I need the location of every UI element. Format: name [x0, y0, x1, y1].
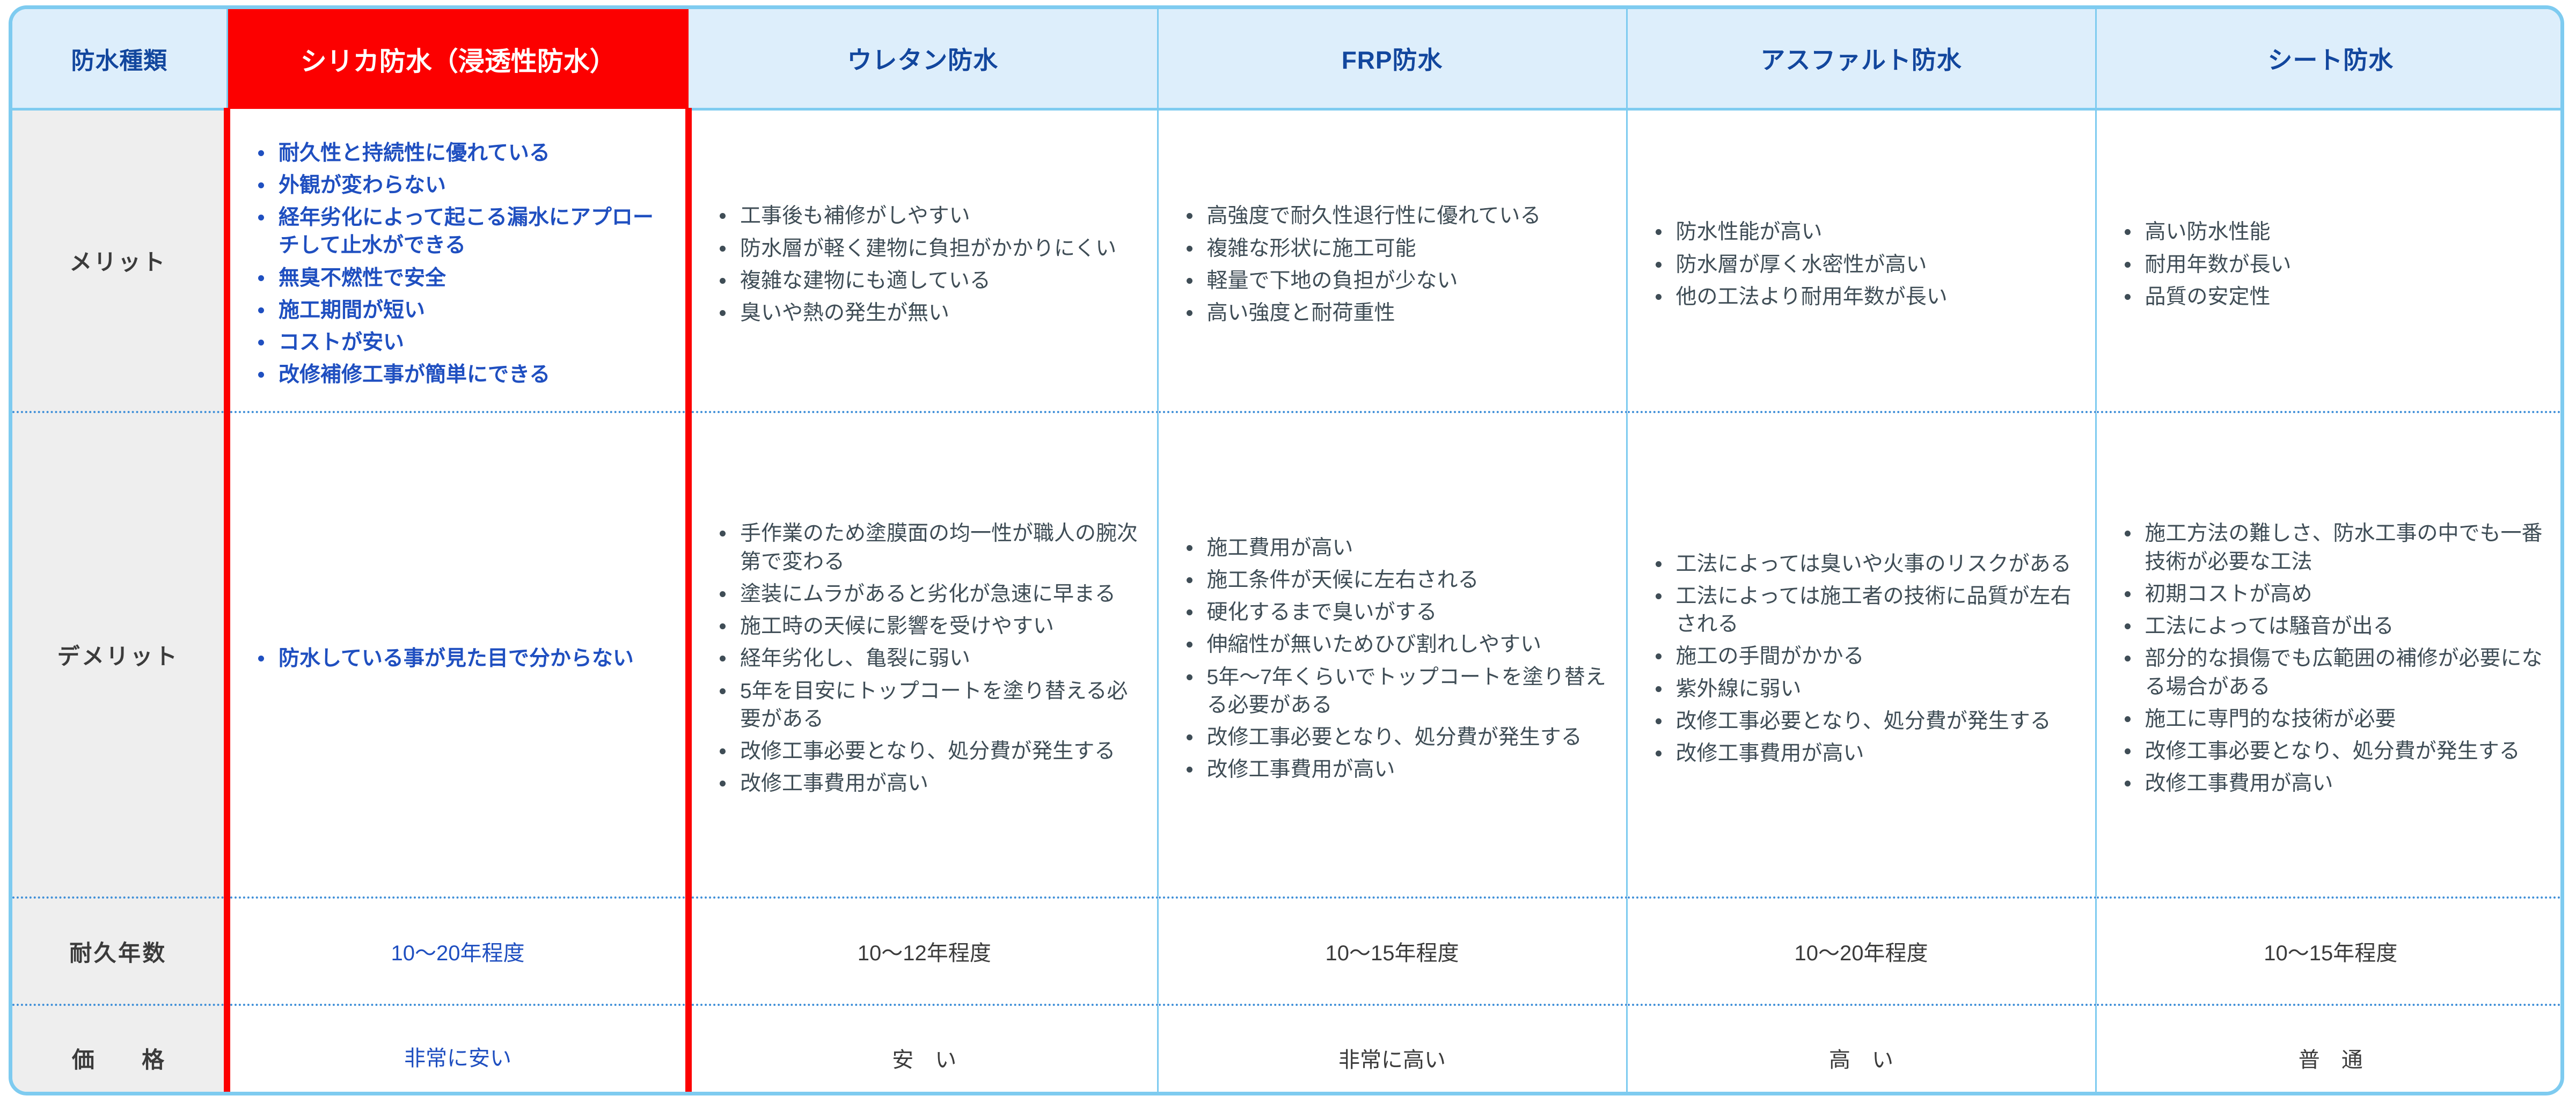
row-label-merit: メリット [12, 109, 227, 412]
list-item: 施工期間が短い [255, 297, 669, 325]
cell-demerit-asphalt: 工法によっては臭いや火事のリスクがある工法によっては施工者の技術に品質が左右され… [1627, 412, 2096, 898]
list-item: 施工の手間がかかる [1652, 643, 2079, 671]
list-item: 経年劣化し、亀裂に弱い [716, 645, 1141, 673]
cell-durability-asphalt: 10〜20年程度 [1627, 898, 2096, 1005]
bullet-list: 耐久性と持続性に優れている外観が変わらない経年劣化によって起こる漏水にアプローチ… [230, 121, 685, 399]
list-item: 防水している事が見た目で分からない [255, 645, 669, 673]
cell-merit-silica: 耐久性と持続性に優れている外観が変わらない経年劣化によって起こる漏水にアプローチ… [227, 109, 689, 412]
list-item: 改修工事必要となり、処分費が発生する [2121, 738, 2549, 766]
waterproofing-comparison-table: 防水種類 シリカ防水（浸透性防水） ウレタン防水 FRP防水 アスファルト防水 … [12, 9, 2564, 1095]
cell-demerit-urethane: 手作業のため塗膜面の均一性が職人の腕次第で変わる塗装にムラがあると劣化が急速に早… [689, 412, 1158, 898]
bullet-list: 工事後も補修がしやすい防水層が軽く建物に負担がかかりにくい複雑な建物にも適してい… [692, 184, 1157, 337]
list-item: 5年を目安にトップコートを塗り替える必要がある [716, 678, 1141, 734]
cell-price-frp: 非常に高い [1158, 1005, 1627, 1095]
table-row-durability: 耐久年数 10〜20年程度 10〜12年程度 10〜15年程度 10〜20年程度… [12, 898, 2564, 1005]
cell-durability-frp: 10〜15年程度 [1158, 898, 1627, 1005]
list-item: 改修工事費用が高い [1652, 740, 2079, 768]
cell-durability-sheet: 10〜15年程度 [2096, 898, 2564, 1005]
list-item: 施工時の天候に影響を受けやすい [716, 613, 1141, 641]
header-col-silica: シリカ防水（浸透性防水） [227, 9, 689, 109]
list-item: 工事後も補修がしやすい [716, 202, 1141, 230]
list-item: 塗装にムラがあると劣化が急速に早まる [716, 580, 1141, 608]
header-col-frp: FRP防水 [1158, 9, 1627, 109]
cell-demerit-frp: 施工費用が高い施工条件が天候に左右される硬化するまで臭いがする伸縮性が無いためひ… [1158, 412, 1627, 898]
list-item: 高い防水性能 [2121, 218, 2549, 246]
bullet-list: 防水性能が高い防水層が厚く水密性が高い他の工法より耐用年数が長い [1628, 200, 2095, 321]
list-item: 外観が変わらない [255, 172, 669, 200]
bullet-list: 高い防水性能耐用年数が長い品質の安定性 [2097, 200, 2565, 321]
bullet-list: 防水している事が見た目で分からない [230, 627, 685, 682]
list-item: 防水性能が高い [1652, 218, 2079, 246]
cell-demerit-silica: 防水している事が見た目で分からない [227, 412, 689, 898]
row-label-demerit: デメリット [12, 412, 227, 898]
cell-durability-silica: 10〜20年程度 [227, 898, 689, 1005]
list-item: 経年劣化によって起こる漏水にアプローチして止水ができる [255, 204, 669, 260]
list-item: 施工条件が天候に左右される [1183, 567, 1610, 594]
table-row-price: 価 格 非常に安い 安 い 非常に高い 高 い 普 通 [12, 1005, 2564, 1095]
list-item: 工法によっては施工者の技術に品質が左右される [1652, 583, 2079, 639]
bullet-list: 手作業のため塗膜面の均一性が職人の腕次第で変わる塗装にムラがあると劣化が急速に早… [692, 502, 1157, 807]
list-item: 伸縮性が無いためひび割れしやすい [1183, 631, 1610, 659]
list-item: 初期コストが高め [2121, 580, 2549, 608]
list-item: 改修工事費用が高い [1183, 756, 1610, 784]
header-row-label: 防水種類 [12, 9, 227, 109]
cell-price-urethane: 安 い [689, 1005, 1158, 1095]
header-col-urethane: ウレタン防水 [689, 9, 1158, 109]
list-item: 防水層が厚く水密性が高い [1652, 251, 2079, 279]
list-item: 高強度で耐久性退行性に優れている [1183, 202, 1610, 230]
cell-merit-urethane: 工事後も補修がしやすい防水層が軽く建物に負担がかかりにくい複雑な建物にも適してい… [689, 109, 1158, 412]
header-col-asphalt: アスファルト防水 [1627, 9, 2096, 109]
list-item: 施工に専門的な技術が必要 [2121, 705, 2549, 733]
list-item: 改修工事必要となり、処分費が発生する [716, 738, 1141, 766]
cell-merit-frp: 高強度で耐久性退行性に優れている複雑な形状に施工可能軽量で下地の負担が少ない高い… [1158, 109, 1627, 412]
list-item: 紫外線に弱い [1652, 675, 2079, 703]
list-item: 高い強度と耐荷重性 [1183, 299, 1610, 327]
row-label-price: 価 格 [12, 1005, 227, 1095]
list-item: 複雑な形状に施工可能 [1183, 235, 1610, 263]
cell-durability-urethane: 10〜12年程度 [689, 898, 1158, 1005]
list-item: 硬化するまで臭いがする [1183, 599, 1610, 627]
bullet-list: 施工費用が高い施工条件が天候に左右される硬化するまで臭いがする伸縮性が無いためひ… [1159, 516, 1626, 794]
table-row-merit: メリット 耐久性と持続性に優れている外観が変わらない経年劣化によって起こる漏水に… [12, 109, 2564, 412]
list-item: 耐用年数が長い [2121, 251, 2549, 279]
list-item: 防水層が軽く建物に負担がかかりにくい [716, 235, 1141, 263]
bullet-list: 施工方法の難しさ、防水工事の中でも一番技術が必要な工法初期コストが高め工法によっ… [2097, 502, 2565, 807]
header-col-sheet: シート防水 [2096, 9, 2564, 109]
list-item: 施工費用が高い [1183, 534, 1610, 562]
list-item: 他の工法より耐用年数が長い [1652, 283, 2079, 311]
comparison-table-frame: 防水種類 シリカ防水（浸透性防水） ウレタン防水 FRP防水 アスファルト防水 … [9, 5, 2564, 1095]
cell-price-sheet: 普 通 [2096, 1005, 2564, 1095]
list-item: 軽量で下地の負担が少ない [1183, 267, 1610, 295]
list-item: 無臭不燃性で安全 [255, 264, 669, 292]
list-item: 品質の安定性 [2121, 283, 2549, 311]
table-row-demerit: デメリット 防水している事が見た目で分からない 手作業のため塗膜面の均一性が職人… [12, 412, 2564, 898]
list-item: 改修工事必要となり、処分費が発生する [1183, 724, 1610, 752]
cell-price-silica: 非常に安い [227, 1005, 689, 1095]
cell-price-asphalt: 高 い [1627, 1005, 2096, 1095]
list-item: 手作業のため塗膜面の均一性が職人の腕次第で変わる [716, 520, 1141, 576]
list-item: 改修工事必要となり、処分費が発生する [1652, 708, 2079, 736]
bullet-list: 工法によっては臭いや火事のリスクがある工法によっては施工者の技術に品質が左右され… [1628, 532, 2095, 778]
list-item: 複雑な建物にも適している [716, 267, 1141, 295]
bullet-list: 高強度で耐久性退行性に優れている複雑な形状に施工可能軽量で下地の負担が少ない高い… [1159, 184, 1626, 337]
cell-merit-sheet: 高い防水性能耐用年数が長い品質の安定性 [2096, 109, 2564, 412]
list-item: 臭いや熱の発生が無い [716, 299, 1141, 327]
list-item: 改修補修工事が簡単にできる [255, 361, 669, 389]
list-item: 工法によっては臭いや火事のリスクがある [1652, 550, 2079, 578]
cell-demerit-sheet: 施工方法の難しさ、防水工事の中でも一番技術が必要な工法初期コストが高め工法によっ… [2096, 412, 2564, 898]
list-item: コストが安い [255, 329, 669, 357]
row-label-durability: 耐久年数 [12, 898, 227, 1005]
cell-merit-asphalt: 防水性能が高い防水層が厚く水密性が高い他の工法より耐用年数が長い [1627, 109, 2096, 412]
list-item: 工法によっては騒音が出る [2121, 613, 2549, 641]
list-item: 改修工事費用が高い [716, 770, 1141, 798]
list-item: 5年〜7年くらいでトップコートを塗り替える必要がある [1183, 664, 1610, 720]
list-item: 耐久性と持続性に優れている [255, 139, 669, 167]
screenshot-root: 防水種類 シリカ防水（浸透性防水） ウレタン防水 FRP防水 アスファルト防水 … [0, 0, 2576, 1103]
list-item: 部分的な損傷でも広範囲の補修が必要になる場合がある [2121, 645, 2549, 701]
list-item: 改修工事費用が高い [2121, 770, 2549, 798]
table-header-row: 防水種類 シリカ防水（浸透性防水） ウレタン防水 FRP防水 アスファルト防水 … [12, 9, 2564, 109]
list-item: 施工方法の難しさ、防水工事の中でも一番技術が必要な工法 [2121, 520, 2549, 576]
